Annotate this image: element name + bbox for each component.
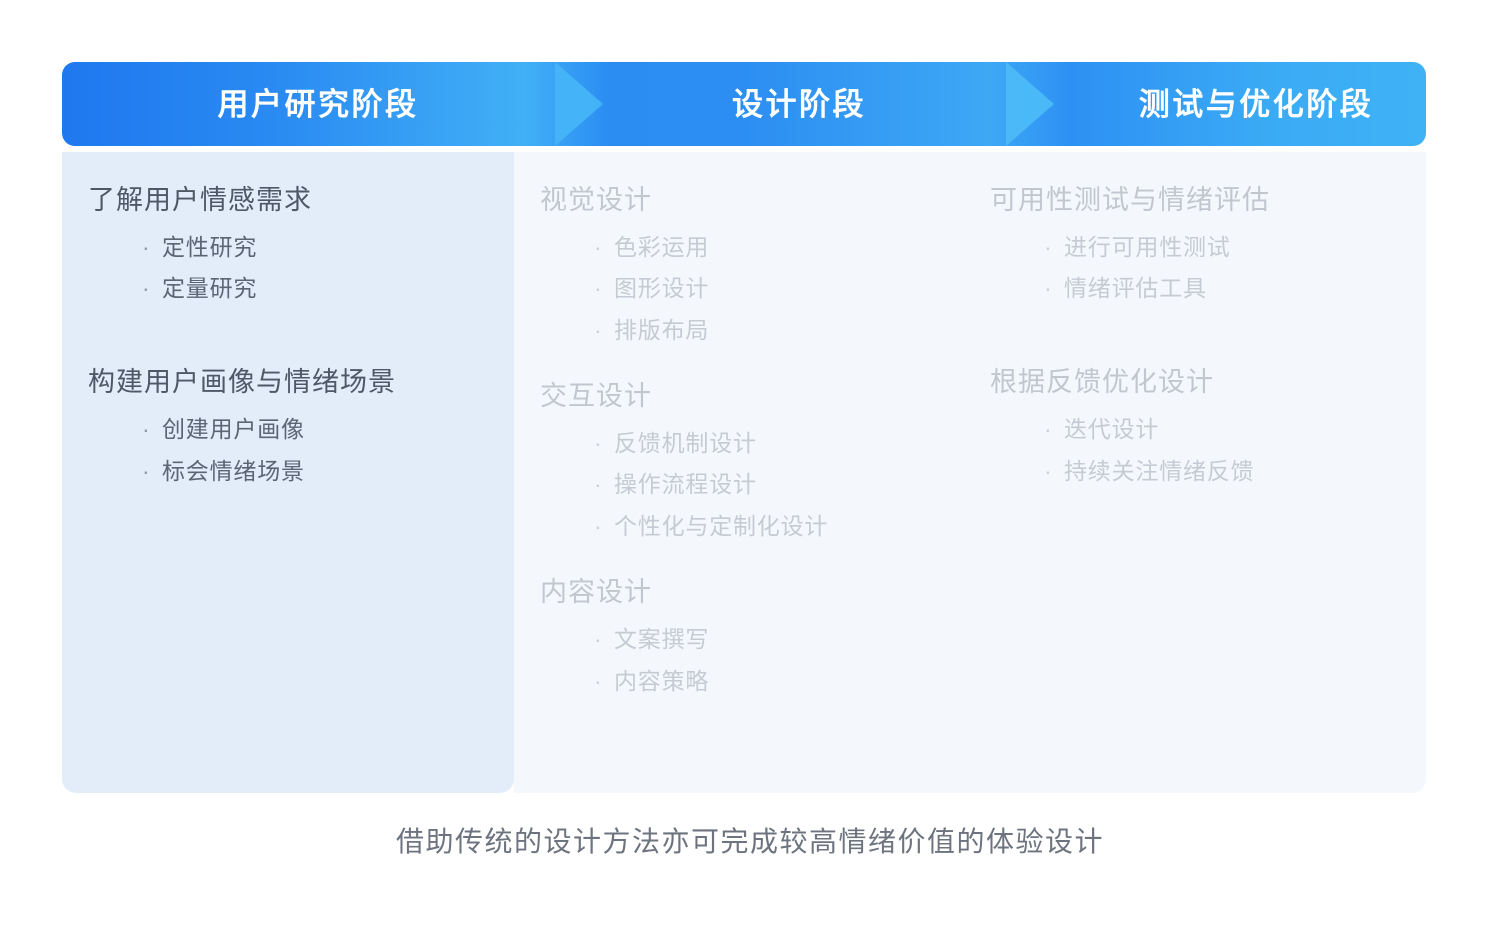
list-item: · 色彩运用	[594, 227, 964, 269]
list-item-label: 迭代设计	[1064, 409, 1159, 451]
phase-group-title: 视觉设计	[540, 180, 964, 221]
phase-group: 视觉设计 · 色彩运用 · 图形设计 · 排版布局	[540, 180, 964, 352]
phase-group: 内容设计 · 文案撰写 · 内容策略	[540, 572, 964, 702]
phase-group-title: 可用性测试与情绪评估	[990, 180, 1426, 221]
list-item-label: 反馈机制设计	[614, 423, 757, 465]
bullet-dot-icon: ·	[594, 619, 614, 661]
list-item-label: 定性研究	[162, 227, 257, 269]
bullet-dot-icon: ·	[1044, 268, 1064, 310]
phase-column-user-research: 了解用户情感需求 · 定性研究 · 定量研究 构建用户画像与情绪场景	[62, 152, 514, 793]
list-item-label: 个性化与定制化设计	[614, 506, 828, 548]
list-item: · 定量研究	[142, 268, 514, 310]
phase-header-label: 测试与优化阶段	[1139, 89, 1374, 120]
list-item: · 情绪评估工具	[1044, 268, 1426, 310]
list-item: · 迭代设计	[1044, 409, 1426, 451]
bullet-dot-icon: ·	[142, 268, 162, 310]
phase-group: 可用性测试与情绪评估 · 进行可用性测试 · 情绪评估工具	[990, 180, 1426, 310]
phase-group: 根据反馈优化设计 · 迭代设计 · 持续关注情绪反馈	[990, 362, 1426, 492]
list-item: · 图形设计	[594, 268, 964, 310]
phase-group-bullets: · 色彩运用 · 图形设计 · 排版布局	[540, 227, 964, 353]
list-item-label: 定量研究	[162, 268, 257, 310]
list-item-label: 持续关注情绪反馈	[1064, 451, 1254, 493]
phase-group-bullets: · 创建用户画像 · 标会情绪场景	[88, 409, 514, 493]
list-item-label: 排版布局	[614, 310, 709, 352]
list-item: · 标会情绪场景	[142, 451, 514, 493]
list-item-label: 创建用户画像	[162, 409, 305, 451]
phase-header-design[interactable]: 设计阶段	[574, 62, 1024, 146]
phase-column-design: 视觉设计 · 色彩运用 · 图形设计 · 排版布局	[514, 152, 964, 793]
phase-header-label: 用户研究阶段	[218, 89, 419, 120]
bullet-dot-icon: ·	[594, 506, 614, 548]
list-item-label: 进行可用性测试	[1064, 227, 1231, 269]
list-item: · 反馈机制设计	[594, 423, 964, 465]
phase-group-title: 根据反馈优化设计	[990, 362, 1426, 403]
phase-group-title: 交互设计	[540, 376, 964, 417]
phase-flow-diagram: 用户研究阶段 设计阶段 测试与优化阶段 了解用户情感需求 · 定性研究	[0, 0, 1500, 933]
phase-group-bullets: · 文案撰写 · 内容策略	[540, 619, 964, 703]
bullet-dot-icon: ·	[1044, 409, 1064, 451]
phase-header-user-research[interactable]: 用户研究阶段	[62, 62, 574, 146]
phase-group-bullets: · 反馈机制设计 · 操作流程设计 · 个性化与定制化设计	[540, 423, 964, 549]
list-item-label: 标会情绪场景	[162, 451, 305, 493]
list-item-label: 图形设计	[614, 268, 709, 310]
list-item-label: 内容策略	[614, 661, 709, 703]
bullet-dot-icon: ·	[142, 409, 162, 451]
list-item-label: 文案撰写	[614, 619, 709, 661]
phase-group-bullets: · 进行可用性测试 · 情绪评估工具	[990, 227, 1426, 311]
diagram-caption: 借助传统的设计方法亦可完成较高情绪价值的体验设计	[0, 820, 1500, 860]
phase-group-title: 内容设计	[540, 572, 964, 613]
phase-header-strip: 用户研究阶段 设计阶段 测试与优化阶段	[62, 62, 1426, 146]
bullet-dot-icon: ·	[594, 661, 614, 703]
bullet-dot-icon: ·	[594, 423, 614, 465]
phase-group-title: 了解用户情感需求	[88, 180, 514, 221]
list-item: · 进行可用性测试	[1044, 227, 1426, 269]
bullet-dot-icon: ·	[142, 227, 162, 269]
list-item: · 持续关注情绪反馈	[1044, 451, 1426, 493]
list-item: · 创建用户画像	[142, 409, 514, 451]
list-item-label: 色彩运用	[614, 227, 709, 269]
list-item: · 定性研究	[142, 227, 514, 269]
phase-group-title: 构建用户画像与情绪场景	[88, 362, 514, 403]
phase-group-bullets: · 定性研究 · 定量研究	[88, 227, 514, 311]
bullet-dot-icon: ·	[594, 268, 614, 310]
phase-body-panel: 了解用户情感需求 · 定性研究 · 定量研究 构建用户画像与情绪场景	[62, 152, 1426, 793]
bullet-dot-icon: ·	[142, 451, 162, 493]
list-item: · 操作流程设计	[594, 464, 964, 506]
phase-group: 构建用户画像与情绪场景 · 创建用户画像 · 标会情绪场景	[88, 362, 514, 492]
list-item: · 内容策略	[594, 661, 964, 703]
bullet-dot-icon: ·	[1044, 451, 1064, 493]
phase-group: 交互设计 · 反馈机制设计 · 操作流程设计 · 个性化与定制化设计	[540, 376, 964, 548]
bullet-dot-icon: ·	[594, 310, 614, 352]
list-item: · 排版布局	[594, 310, 964, 352]
bullet-dot-icon: ·	[1044, 227, 1064, 269]
bullet-dot-icon: ·	[594, 227, 614, 269]
phase-group: 了解用户情感需求 · 定性研究 · 定量研究	[88, 180, 514, 310]
phase-header-label: 设计阶段	[732, 89, 866, 120]
list-item-label: 操作流程设计	[614, 464, 757, 506]
bullet-dot-icon: ·	[594, 464, 614, 506]
list-item: · 文案撰写	[594, 619, 964, 661]
phase-group-bullets: · 迭代设计 · 持续关注情绪反馈	[990, 409, 1426, 493]
list-item-label: 情绪评估工具	[1064, 268, 1207, 310]
phase-column-test-optimize: 可用性测试与情绪评估 · 进行可用性测试 · 情绪评估工具 根据反馈优化设计	[964, 152, 1426, 793]
phase-header-test-optimize[interactable]: 测试与优化阶段	[1024, 62, 1426, 146]
list-item: · 个性化与定制化设计	[594, 506, 964, 548]
